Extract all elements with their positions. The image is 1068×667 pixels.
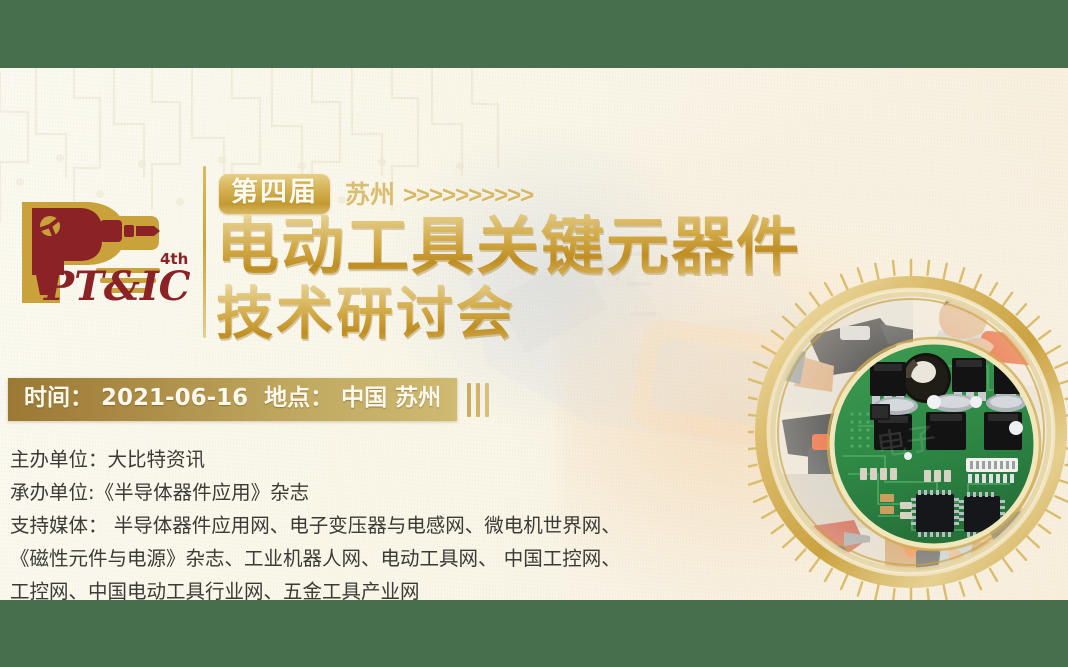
- poster-canvas: 3 PT&IC 4th 第四届: [0, 68, 1068, 600]
- organiser-row: 承办单位:《半导体器件应用》杂志: [10, 476, 610, 509]
- bottom-green-band: [0, 600, 1068, 667]
- page-title: 电动工具关键元器件 技术研讨会: [216, 213, 836, 345]
- headline-line-1: 电动工具关键元器件: [216, 213, 836, 281]
- event-meta-bar: 时间： 2021-06-16 地点： 中国 苏州: [8, 378, 457, 421]
- pt-and-ic-logo[interactable]: PT&IC 4th: [8, 196, 193, 308]
- headline-line-2: 技术研讨会: [216, 283, 836, 345]
- circular-power-tool-collage: 电子: [748, 206, 1068, 600]
- logo-ordinal: 4th: [160, 250, 188, 268]
- organiser-row: 工控网、中国电动工具行业网、五金工具产业网: [10, 575, 610, 600]
- edition-badge-label: 第四届: [231, 178, 318, 208]
- city-label: 苏州: [345, 180, 395, 210]
- pcb-circuit-board-circle: 电子: [828, 338, 1040, 550]
- poster-root: 3 PT&IC 4th 第四届: [0, 0, 1068, 667]
- top-green-band: [0, 0, 1068, 68]
- organiser-block: 主办单位：大比特资讯 承办单位:《半导体器件应用》杂志 支持媒体： 半导体器件应…: [10, 443, 610, 600]
- organiser-row: 支持媒体： 半导体器件应用网、电子变压器与电感网、微电机世界网、: [10, 509, 610, 542]
- logo-wordmark: PT&IC: [43, 263, 191, 308]
- organiser-row: 主办单位：大比特资讯: [10, 443, 610, 476]
- edition-badge: 第四届: [219, 174, 330, 214]
- organiser-row: 《磁性元件与电源》杂志、工业机器人网、电动工具网、 中国工控网、: [10, 542, 610, 575]
- qfp-chip-1: [911, 490, 959, 537]
- vertical-gold-divider: [203, 166, 206, 338]
- chevron-arrows: >>>>>>>>>>: [403, 182, 533, 210]
- event-place: 地点： 中国 苏州: [264, 385, 441, 412]
- decorative-bars: [467, 383, 489, 417]
- event-meta: 时间： 2021-06-16 地点： 中国 苏州: [8, 378, 489, 421]
- event-time: 时间： 2021-06-16: [24, 385, 248, 412]
